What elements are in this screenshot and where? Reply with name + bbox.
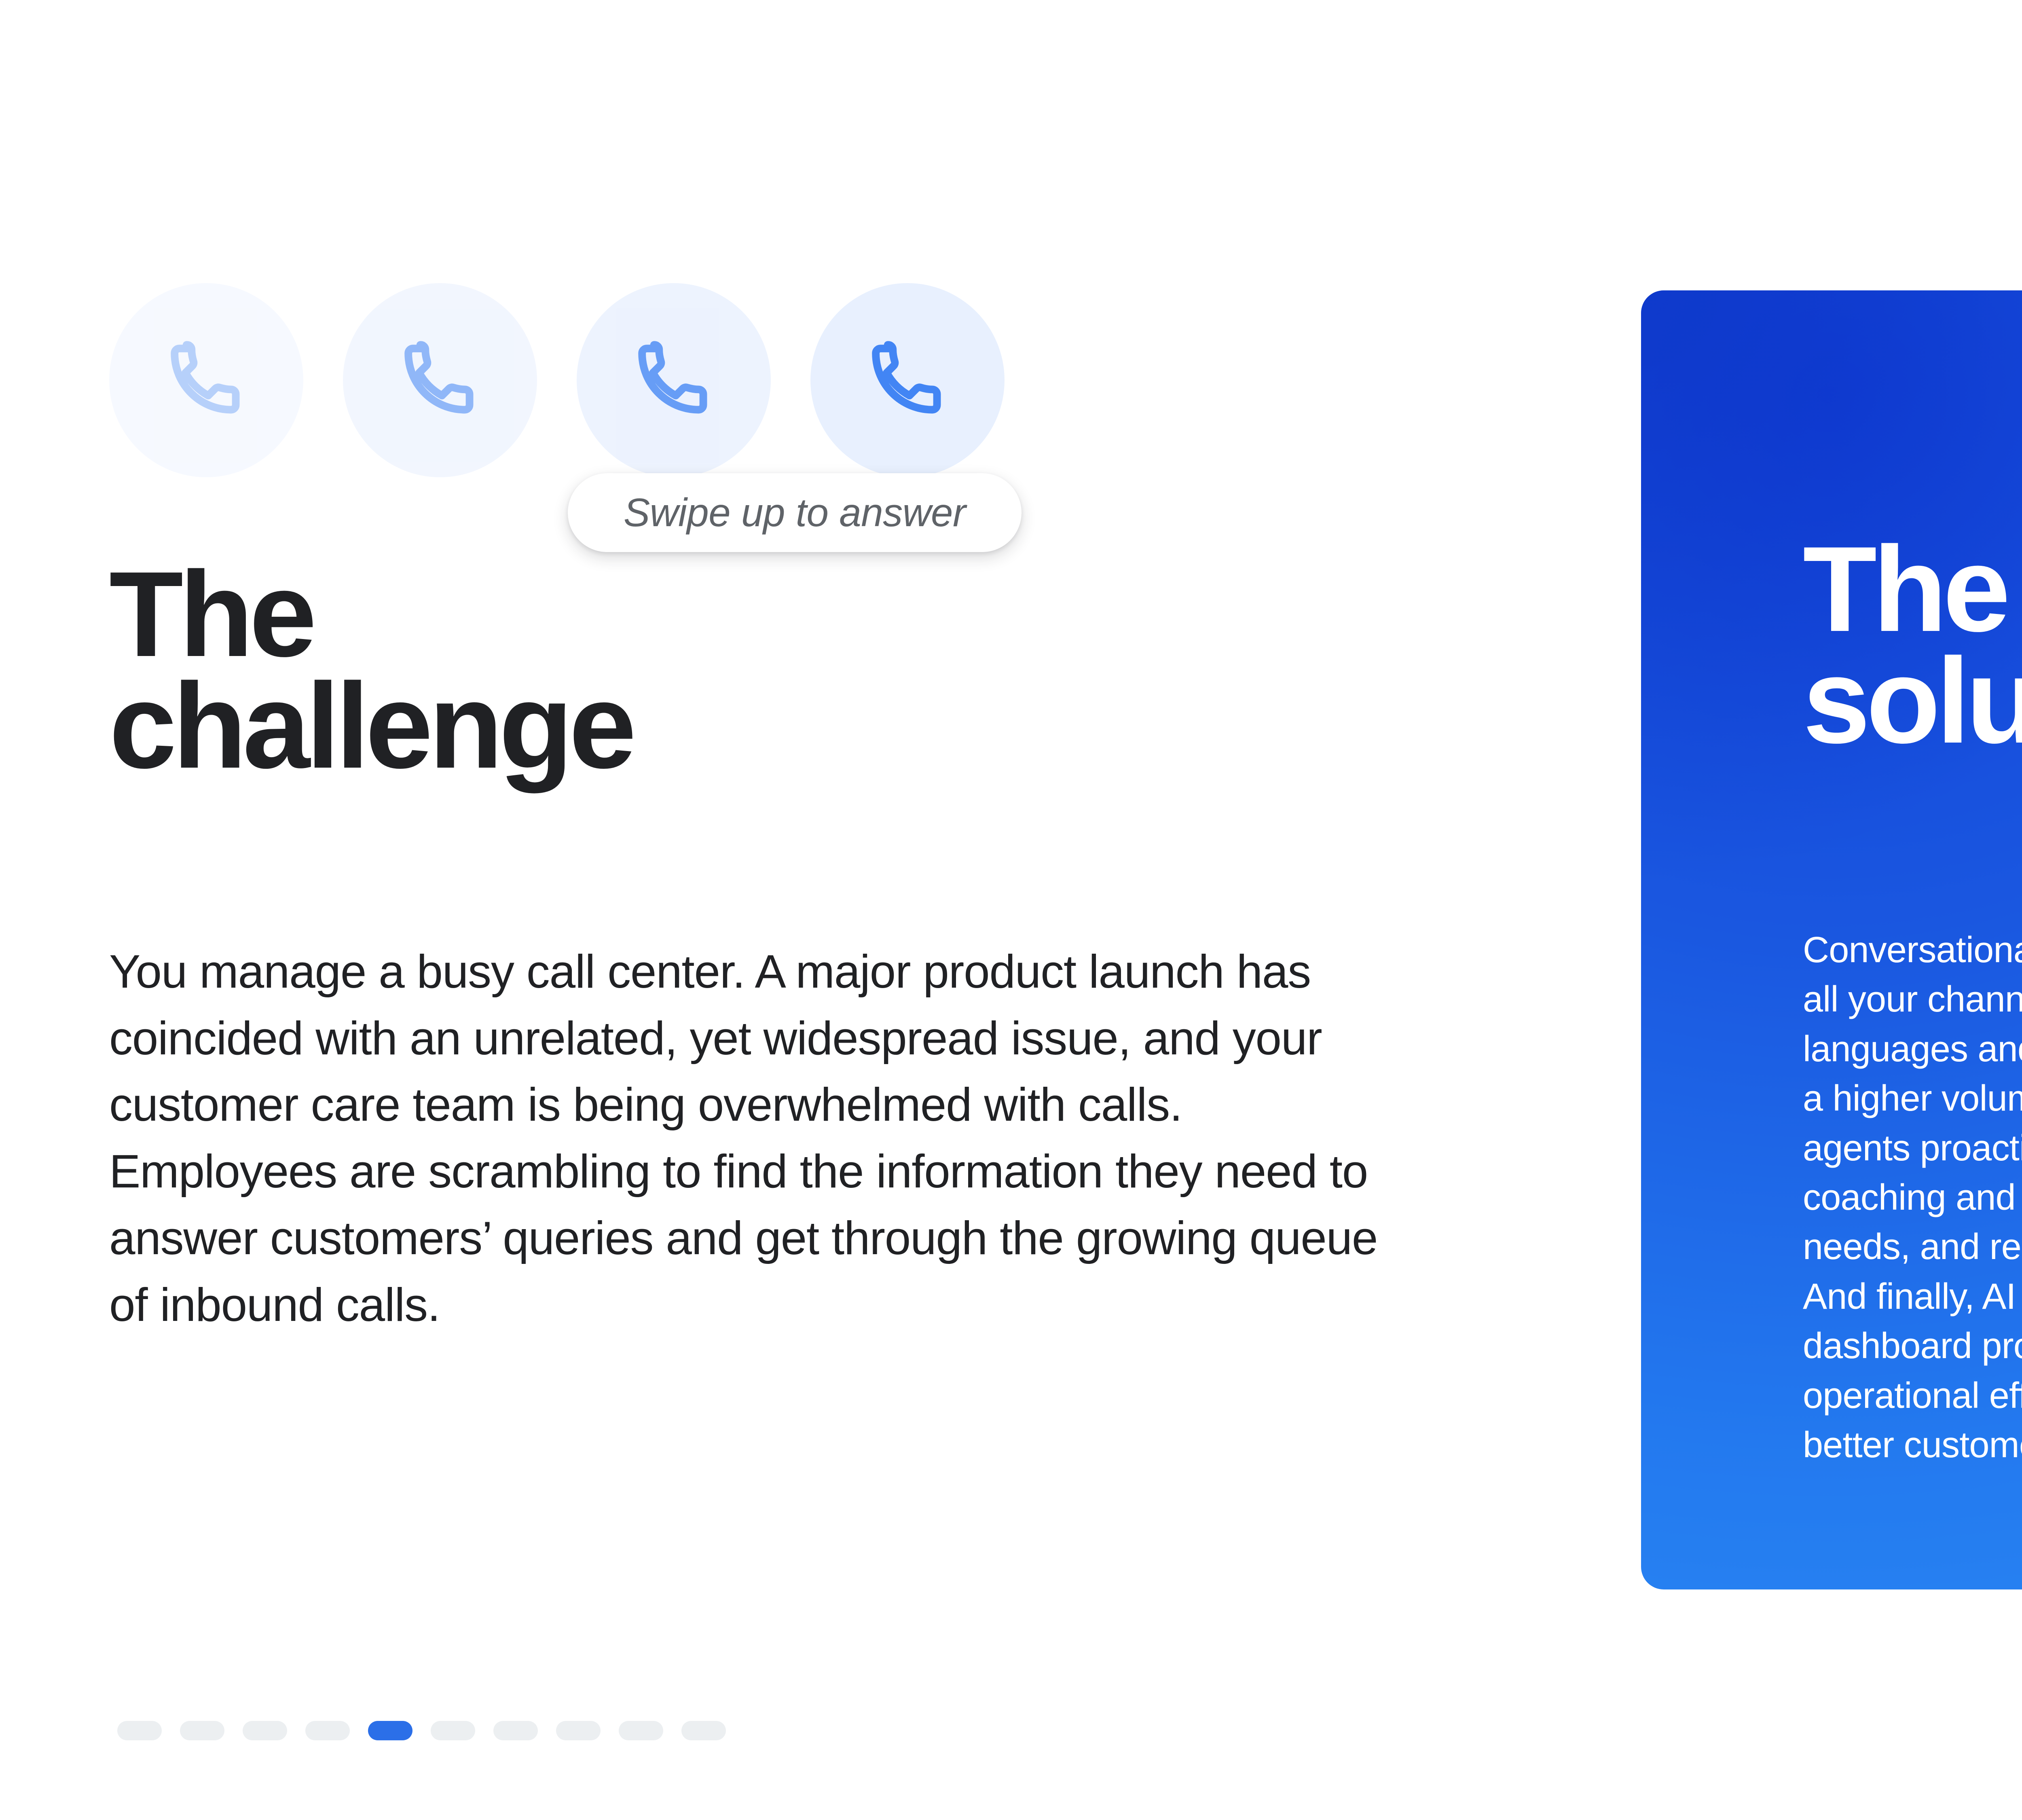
phone-badge-2 [343,283,537,477]
phone-call-icon [864,337,951,424]
solution-title: Thesolution [1803,533,2022,756]
pagination-dot[interactable] [556,1721,601,1740]
pagination-dot-active[interactable] [368,1721,412,1740]
phone-badge-3 [577,283,771,477]
phone-badge-4 [810,283,1005,477]
pagination-dot[interactable] [493,1721,538,1740]
challenge-body-text: You manage a busy call center. A major p… [109,938,1395,1338]
pagination-dot[interactable] [117,1721,162,1740]
pagination-dot[interactable] [243,1721,287,1740]
solution-body-text: Conversational AI agents can scale your … [1803,925,2022,1470]
pagination-dots[interactable] [117,1721,726,1740]
pagination-dot[interactable] [180,1721,224,1740]
slide-canvas: Swipe up to answer Thechallenge You mana… [0,0,2022,1820]
phone-call-icon [163,337,250,424]
phone-call-icon [630,337,717,424]
swipe-hint-label: Swipe up to answer [624,490,966,535]
challenge-column [109,283,1484,477]
solution-card: Calls per day 391 Mon, Nov 25 600 200 0 [1641,290,2022,1589]
pagination-dot[interactable] [619,1721,663,1740]
phone-call-icon [397,337,484,424]
challenge-title: Thechallenge [109,558,1242,781]
pagination-dot[interactable] [305,1721,350,1740]
swipe-up-to-answer-pill[interactable]: Swipe up to answer [568,473,1022,552]
phone-icon-row [109,283,1039,477]
pagination-dot[interactable] [681,1721,726,1740]
phone-badge-1 [109,283,303,477]
pagination-dot[interactable] [431,1721,475,1740]
